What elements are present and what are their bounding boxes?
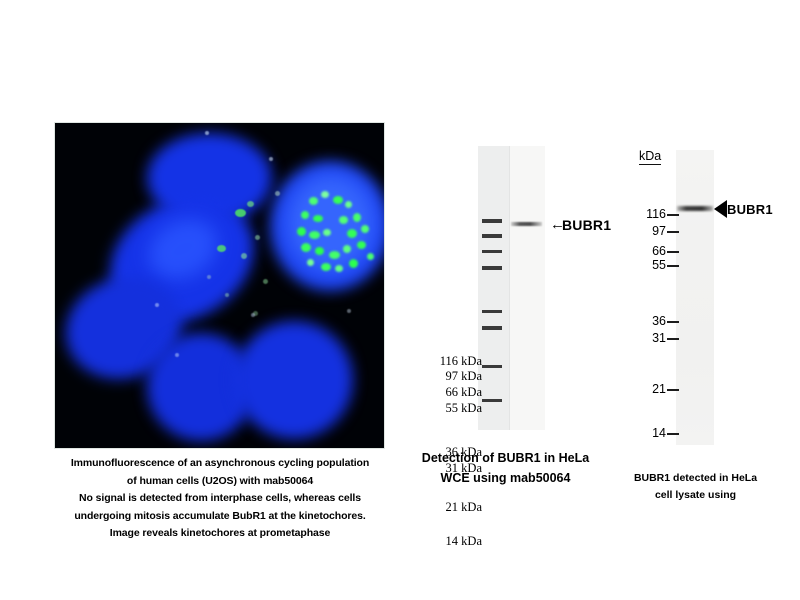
ladder-mark-31 <box>482 326 502 330</box>
if-caption-line-4: undergoing mitosis accumulate BubR1 at t… <box>45 508 395 526</box>
ladder-mark-36 <box>482 310 502 313</box>
if-caption-line-5: Image reveals kinetochores at prometapha… <box>45 525 395 543</box>
mw-label-97: 97 kDa <box>402 369 482 384</box>
band-arrowhead-icon-right <box>714 200 727 218</box>
ladder-tick-right-55 <box>667 265 679 267</box>
mw-label-right-55: 55 <box>636 258 666 272</box>
western-blot-middle-panel: 116 kDa 97 kDa 66 kDa 55 kDa 36 kDa 31 k… <box>410 140 620 450</box>
immunofluorescence-panel <box>55 123 384 448</box>
wb1-caption-line-2: WCE using mab50064 <box>408 468 603 488</box>
mw-label-66: 66 kDa <box>402 385 482 400</box>
kda-header-right: kDa <box>639 150 661 165</box>
ladder-tick-right-97 <box>667 231 679 233</box>
wb2-caption-line-2: cell lysate using <box>598 487 793 504</box>
ladder-mark-116 <box>482 219 502 223</box>
mw-label-right-36: 36 <box>636 314 666 328</box>
ladder-mark-21 <box>482 365 502 368</box>
blot-sample-lane-middle <box>510 146 545 430</box>
if-caption-line-2: of human cells (U2OS) with mab50064 <box>45 473 395 491</box>
western-blot-middle-caption: Detection of BUBR1 in HeLa WCE using mab… <box>408 448 603 488</box>
immunofluorescence-micrograph <box>55 123 384 448</box>
mw-label-21: 21 kDa <box>402 500 482 515</box>
mw-label-right-21: 21 <box>636 382 666 396</box>
ladder-mark-55 <box>482 266 502 270</box>
ladder-mark-14 <box>482 399 502 402</box>
protein-band-bubr1-middle <box>511 222 542 226</box>
ladder-tick-right-21 <box>667 389 679 391</box>
ladder-tick-right-66 <box>667 251 679 253</box>
ladder-tick-right-14 <box>667 433 679 435</box>
if-caption-line-3: No signal is detected from interphase ce… <box>45 490 395 508</box>
if-caption-line-1: Immunofluorescence of an asynchronous cy… <box>45 455 395 473</box>
ladder-mark-66 <box>482 250 502 253</box>
mw-label-right-97: 97 <box>636 224 666 238</box>
scattered-foci <box>195 183 305 353</box>
mw-label-right-116: 116 <box>636 207 666 221</box>
wb1-caption-line-1: Detection of BUBR1 in HeLa <box>408 448 603 468</box>
ladder-tick-right-116 <box>667 214 679 216</box>
mw-label-116: 116 kDa <box>402 354 482 369</box>
blot-lane-right <box>676 150 714 445</box>
band-label-bubr1-right: BUBR1 <box>727 202 773 217</box>
blot-ladder-lane-middle <box>478 146 510 430</box>
ladder-tick-right-31 <box>667 338 679 340</box>
band-label-bubr1-middle: BUBR1 <box>562 217 611 233</box>
western-blot-right-caption: BUBR1 detected in HeLa cell lysate using <box>598 470 793 504</box>
mw-label-14: 14 kDa <box>402 534 482 549</box>
ladder-tick-right-36 <box>667 321 679 323</box>
wb2-caption-line-1: BUBR1 detected in HeLa <box>598 470 793 487</box>
western-blot-right-panel: kDa 116 97 66 55 36 31 21 14 BUBR1 <box>636 140 800 450</box>
immunofluorescence-caption: Immunofluorescence of an asynchronous cy… <box>45 455 395 543</box>
mw-label-55: 55 kDa <box>402 401 482 416</box>
ladder-mark-97 <box>482 234 502 238</box>
mw-label-right-31: 31 <box>636 331 666 345</box>
mw-label-right-14: 14 <box>636 426 666 440</box>
protein-band-bubr1-right <box>677 206 713 211</box>
mw-label-right-66: 66 <box>636 244 666 258</box>
